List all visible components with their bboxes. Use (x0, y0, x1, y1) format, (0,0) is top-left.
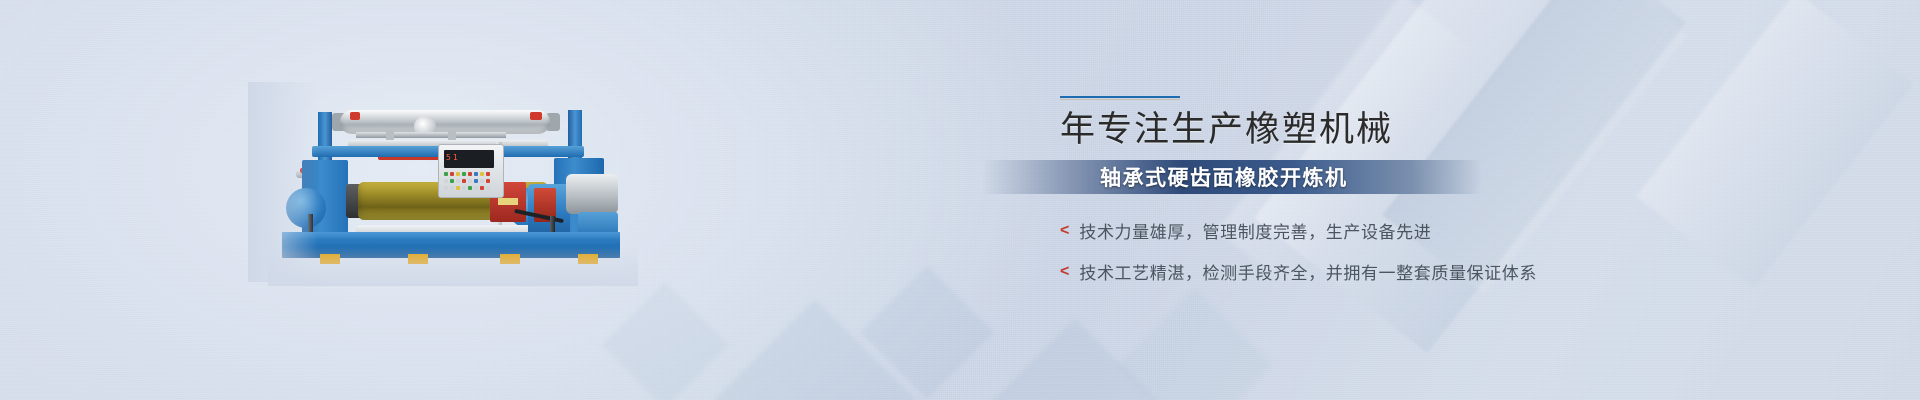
product-name-bar: 轴承式硬齿面橡胶开炼机 (982, 160, 1482, 194)
chevron-left-icon: < (1060, 223, 1069, 239)
panel-button-row-2 (444, 179, 490, 183)
top-red-clamp-right (530, 112, 542, 120)
headline-rule-secondary (1060, 99, 1180, 100)
panel-display-value: 51 (446, 153, 460, 162)
headline-rule (1060, 96, 1180, 98)
knife-bar (356, 132, 506, 138)
hero-banner: 51 (0, 0, 1920, 400)
decor-diamond-4 (601, 281, 728, 400)
image-fade-bottom (268, 246, 638, 286)
hero-content: 年专注生产橡塑机械 轴承式硬齿面橡胶开炼机 < 技术力量雄厚，管理制度完善，生产… (1060, 96, 1760, 300)
list-item: < 技术力量雄厚，管理制度完善，生产设备先进 (1060, 218, 1760, 243)
decor-diamond-5 (1117, 287, 1273, 400)
product-name-label: 轴承式硬齿面橡胶开炼机 (1100, 162, 1348, 192)
feature-list: < 技术力量雄厚，管理制度完善，生产设备先进 < 技术工艺精湛，检测手段齐全，并… (1060, 218, 1760, 284)
decor-diamond-2 (860, 265, 994, 399)
list-item-label: 技术力量雄厚，管理制度完善，生产设备先进 (1079, 218, 1431, 243)
decor-diamond-1 (709, 299, 921, 400)
list-item-label: 技术工艺精湛，检测手段齐全，并拥有一整套质量保证体系 (1079, 259, 1537, 284)
panel-button-row-3 (444, 186, 490, 190)
page-title: 年专注生产橡塑机械 (1060, 110, 1760, 150)
motor (566, 174, 618, 214)
red-box-label (498, 198, 518, 205)
top-roller (340, 110, 550, 134)
list-item: < 技术工艺精湛，检测手段齐全，并拥有一整套质量保证体系 (1060, 259, 1760, 284)
panel-button-row-1 (444, 172, 490, 176)
chevron-left-icon: < (1060, 264, 1069, 280)
machine-image: 51 (278, 96, 626, 266)
decor-diamond-3 (983, 318, 1167, 400)
top-red-clamp-left (350, 112, 360, 120)
